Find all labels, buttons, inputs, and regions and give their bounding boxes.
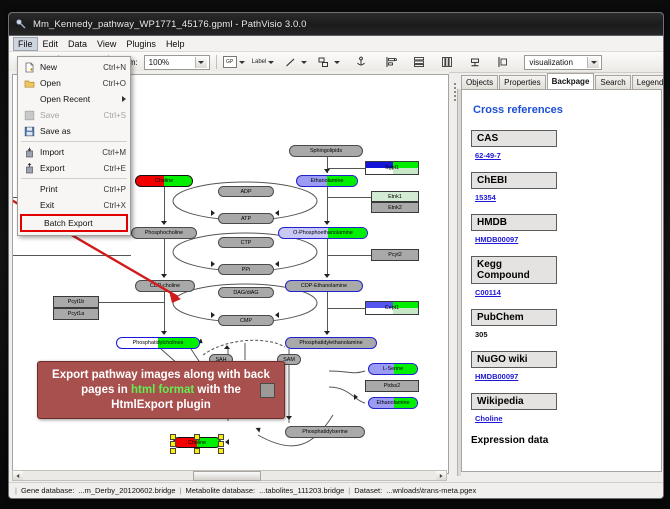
node-cdp-ethanolamine[interactable]: CDP-Ethanolamine <box>285 280 363 292</box>
node-label: Etnk2 <box>388 205 402 211</box>
node-label: Pcyt1a <box>68 311 84 317</box>
tab-search[interactable]: Search <box>595 75 630 89</box>
arrow-icon <box>211 312 215 318</box>
arrow-icon <box>275 210 279 216</box>
new-file-icon <box>22 61 36 73</box>
menu-separator <box>21 141 127 142</box>
menu-separator <box>21 178 127 179</box>
group-icon[interactable] <box>466 54 483 71</box>
zoom-value: 100% <box>147 58 195 67</box>
canvas-horizontal-scrollbar[interactable] <box>12 470 447 481</box>
node-label: Phosphocholine <box>145 230 183 236</box>
node-label: CTP <box>241 240 252 246</box>
node-sphingolipids[interactable]: Sphingolipids <box>289 145 363 157</box>
xref-value-hmdb[interactable]: HMDB00097 <box>475 235 652 244</box>
menu-item-accelerator: Ctrl+E <box>104 164 126 173</box>
node-label: Pcyt2 <box>388 252 401 258</box>
status-metabolite-database-label: Metabolite database: <box>183 486 257 495</box>
node-pcyt2[interactable]: Pcyt2 <box>371 249 419 261</box>
node-ptdss2[interactable]: Ptdss2 <box>365 380 419 392</box>
arrow-icon <box>211 261 215 267</box>
node-label: ADP <box>240 189 251 195</box>
node-ctp[interactable]: CTP <box>218 237 274 248</box>
menu-item-label: Print <box>40 184 104 194</box>
menu-file[interactable]: File <box>13 37 38 51</box>
cross-references-heading: Cross references <box>473 104 652 116</box>
node-cept1[interactable]: Cept1 <box>365 301 419 315</box>
order-icon[interactable] <box>494 54 511 71</box>
menu-item-export[interactable]: Export Ctrl+E <box>18 160 130 176</box>
blank-icon <box>22 199 36 211</box>
node-ethanolamine-bottom[interactable]: Ethanolamine <box>368 397 418 409</box>
xref-value-cas[interactable]: 62-49-7 <box>475 151 652 160</box>
visualization-value: visualization <box>527 58 587 67</box>
node-label: Phosphatidylcholines <box>133 340 184 346</box>
file-menu-dropdown[interactable]: New Ctrl+N Open Ctrl+O Open Recent Save <box>17 56 131 236</box>
menu-item-label: New <box>40 62 103 72</box>
menu-plugins[interactable]: Plugins <box>121 37 161 51</box>
blank-icon <box>22 183 36 195</box>
line-tool[interactable] <box>282 54 307 71</box>
chevron-down-icon[interactable] <box>195 57 207 68</box>
scroll-right-icon[interactable] <box>436 471 446 480</box>
menu-item-label: Open Recent <box>40 94 122 104</box>
application-window: Mm_Kennedy_pathway_WP1771_45176.gpml - P… <box>8 12 664 499</box>
menu-bar[interactable]: File Edit Data View Plugins Help <box>9 36 663 52</box>
resize-handle[interactable] <box>218 441 224 447</box>
status-bar: | Gene database: ...m_Derby_20120602.bri… <box>9 482 663 498</box>
pathvisio-icon <box>15 18 28 31</box>
save-icon <box>22 109 36 121</box>
node-phosphatidylethanolamine[interactable]: Phosphatidylethanolamine <box>285 337 377 349</box>
status-metabolite-database-value: ...tabolites_111203.bridge <box>257 486 346 495</box>
menu-item-label: Batch Export <box>44 218 122 228</box>
node-pcyt1a[interactable]: Pcyt1a <box>53 308 99 320</box>
node-cmp[interactable]: CMP <box>218 315 274 326</box>
node-label: CDP-Ethanolamine <box>301 283 347 289</box>
side-panel-tabs[interactable]: Objects Properties Backpage Search Legen… <box>449 74 664 89</box>
tab-properties[interactable]: Properties <box>499 75 545 89</box>
xref-value-nugo-wiki[interactable]: HMDB00097 <box>475 372 652 381</box>
menu-item-label: Exit <box>40 200 104 210</box>
chevron-down-icon[interactable] <box>301 61 307 64</box>
xref-header-nugo-wiki: NuGO wiki <box>471 351 557 368</box>
arrow-icon <box>354 394 358 400</box>
banner-line-2-a: pages in <box>81 384 131 396</box>
node-pcyt1b[interactable]: Pcyt1b <box>53 296 99 308</box>
node-sgpl1[interactable]: Sgpl1 <box>365 161 419 175</box>
menu-item-accelerator: Ctrl+S <box>104 111 126 120</box>
arrow-icon <box>211 210 215 216</box>
resize-handle[interactable] <box>218 448 224 454</box>
tab-objects[interactable]: Objects <box>461 75 498 89</box>
xref-header-kegg-compound: Kegg Compound <box>471 256 557 284</box>
xref-value-pubchem: 305 <box>475 330 652 339</box>
node-label: Sphingolipids <box>310 148 342 154</box>
desktop-background: Mm_Kennedy_pathway_WP1771_45176.gpml - P… <box>0 0 670 509</box>
arrow-icon <box>286 416 292 420</box>
menu-item-open-recent[interactable]: Open Recent <box>18 91 130 107</box>
resize-handle[interactable] <box>170 434 176 440</box>
node-label: CMP <box>240 318 252 324</box>
pathway-anchor-tag[interactable] <box>260 383 275 398</box>
menu-item-accelerator: Ctrl+N <box>103 63 126 72</box>
status-dataset-label: Dataset: <box>352 486 384 495</box>
banner-line-2-b: with the <box>194 384 241 396</box>
blank-icon <box>22 93 36 105</box>
menu-item-open[interactable]: Open Ctrl+O <box>18 75 130 91</box>
tab-legend[interactable]: Legend <box>632 75 664 89</box>
status-gene-database-label: Gene database: <box>19 486 76 495</box>
node-phosphocholine[interactable]: Phosphocholine <box>131 227 197 239</box>
node-label: Phosphatidylserine <box>302 429 348 435</box>
node-etnk1[interactable]: Etnk1 <box>371 191 419 202</box>
resize-handle[interactable] <box>170 448 176 454</box>
menu-help[interactable]: Help <box>161 37 190 51</box>
annotation-banner: Export pathway images along with back pa… <box>37 361 285 419</box>
save-as-icon <box>22 125 36 137</box>
xref-header-pubchem: PubChem <box>471 309 557 326</box>
banner-line-1: Export pathway images along with back <box>52 368 270 383</box>
arrow-icon <box>275 261 279 267</box>
chevron-down-icon[interactable] <box>587 57 599 68</box>
node-label: DAG/diAG <box>233 290 258 296</box>
node-label: ATP <box>241 216 251 222</box>
chevron-down-icon[interactable] <box>239 61 245 64</box>
menu-view[interactable]: View <box>92 37 121 51</box>
menu-item-save: Save Ctrl+S <box>18 107 130 123</box>
resize-handle[interactable] <box>170 441 176 447</box>
node-phosphatidylserine[interactable]: Phosphatidylserine <box>285 426 365 438</box>
xref-header-hmdb: HMDB <box>471 214 557 231</box>
node-label: SAM <box>283 357 295 363</box>
node-o-phosphoethanolamine[interactable]: O-Phosphoethanolamine <box>278 227 368 239</box>
menu-item-label: Import <box>40 147 102 157</box>
menu-item-new[interactable]: New Ctrl+N <box>18 59 130 75</box>
tab-backpage[interactable]: Backpage <box>547 73 595 89</box>
node-label: PPi <box>242 267 250 273</box>
window-title: Mm_Kennedy_pathway_WP1771_45176.gpml - P… <box>33 19 307 30</box>
menu-item-exit[interactable]: Exit Ctrl+X <box>18 197 130 213</box>
node-label: Cept1 <box>385 305 399 311</box>
side-panel: Objects Properties Backpage Search Legen… <box>449 71 664 498</box>
xref-header-cas: CAS <box>471 130 557 147</box>
label-tool-text: Label <box>252 59 267 65</box>
status-gene-database-value: ...m_Derby_20120602.bridge <box>76 486 177 495</box>
banner-line-3: HtmlExport plugin <box>111 398 211 413</box>
export-icon <box>22 162 36 174</box>
arrow-icon <box>224 345 230 349</box>
node-label: Ethanolamine <box>311 178 344 184</box>
node-phosphatidylcholines[interactable]: Phosphatidylcholines <box>116 337 200 349</box>
menu-item-save-as[interactable]: Save as <box>18 123 130 139</box>
node-label: Sgpl1 <box>385 165 399 171</box>
toolbar-separator-3 <box>216 55 217 69</box>
node-etnk2[interactable]: Etnk2 <box>371 202 419 213</box>
blank-icon <box>26 217 40 229</box>
menu-item-label: Open <box>40 78 103 88</box>
xref-header-wikipedia: Wikipedia <box>471 393 557 410</box>
node-dag-diag[interactable]: DAG/diAG <box>218 287 274 298</box>
node-adp[interactable]: ADP <box>218 186 274 197</box>
node-cdp-choline[interactable]: CDP-choline <box>135 280 195 292</box>
align-stack-icon[interactable] <box>410 54 427 71</box>
resize-handle[interactable] <box>194 434 200 440</box>
node-label: O-Phosphoethanolamine <box>293 230 353 236</box>
label-tool[interactable]: Label <box>252 59 275 65</box>
node-atp[interactable]: ATP <box>218 213 274 224</box>
menu-data[interactable]: Data <box>63 37 92 51</box>
import-icon <box>22 146 36 158</box>
chevron-down-icon[interactable] <box>334 61 340 64</box>
node-ethanolamine-top[interactable]: Ethanolamine <box>296 175 358 187</box>
node-l-serine[interactable]: L-Serine <box>368 363 418 375</box>
menu-item-label: Save <box>40 110 104 120</box>
arrow-icon <box>275 312 279 318</box>
node-label: Ethanolamine <box>377 400 410 406</box>
line-icon[interactable] <box>282 54 299 71</box>
menu-item-print[interactable]: Print Ctrl+P <box>18 181 130 197</box>
submenu-arrow-icon <box>122 96 126 102</box>
visualization-combo[interactable]: visualization <box>524 55 602 70</box>
backpage-panel: Cross references CAS 62-49-7 ChEBI 15354… <box>461 89 662 472</box>
xref-header-chebi: ChEBI <box>471 172 557 189</box>
node-label: CDP-choline <box>150 283 180 289</box>
xref-value-chebi[interactable]: 15354 <box>475 193 652 202</box>
xref-value-kegg-compound[interactable]: C00114 <box>475 288 652 297</box>
chevron-down-icon[interactable] <box>268 61 274 64</box>
shape-icon[interactable] <box>315 54 332 71</box>
node-label: Ptdss2 <box>384 383 400 389</box>
align-columns-icon[interactable] <box>438 54 455 71</box>
menu-edit[interactable]: Edit <box>38 37 64 51</box>
shape-tool[interactable] <box>315 54 340 71</box>
node-label: Phosphatidylethanolamine <box>299 340 362 346</box>
menu-item-accelerator: Ctrl+X <box>104 201 126 210</box>
status-dataset-value: ...wnloads\trans-meta.pgex <box>384 486 478 495</box>
zoom-combo[interactable]: 100% <box>144 55 210 70</box>
menu-item-accelerator: Ctrl+P <box>104 185 126 194</box>
node-label: Etnk1 <box>388 194 402 200</box>
menu-item-label: Export <box>40 163 104 173</box>
open-folder-icon <box>22 77 36 89</box>
node-ppi[interactable]: PPi <box>218 264 274 275</box>
xref-value-wikipedia[interactable]: Choline <box>475 414 652 423</box>
node-label: Pcyt1b <box>68 299 84 305</box>
menu-item-import[interactable]: Import Ctrl+M <box>18 144 130 160</box>
resize-handle[interactable] <box>194 448 200 454</box>
title-bar: Mm_Kennedy_pathway_WP1771_45176.gpml - P… <box>9 13 663 36</box>
menu-item-label: Save as <box>40 126 126 136</box>
geneproduct-icon[interactable]: GP <box>223 56 237 68</box>
scroll-left-icon[interactable] <box>13 471 23 480</box>
resize-handle[interactable] <box>218 434 224 440</box>
node-label: Choline <box>188 440 206 446</box>
menu-item-batch-export[interactable]: Batch Export <box>20 214 128 232</box>
align-left-icon[interactable] <box>382 54 399 71</box>
datanode-tool[interactable]: GP <box>223 56 245 68</box>
banner-line-2: pages in html format with the <box>81 383 241 398</box>
scrollbar-thumb[interactable] <box>193 471 261 481</box>
node-choline[interactable]: Choline <box>135 175 193 187</box>
arrow-icon <box>225 439 229 445</box>
menu-item-accelerator: Ctrl+O <box>103 79 126 88</box>
menu-item-accelerator: Ctrl+M <box>102 148 126 157</box>
node-label: Choline <box>155 178 173 184</box>
anchor-tool-icon[interactable] <box>352 54 369 71</box>
banner-highlight: html format <box>131 384 194 396</box>
expression-data-heading: Expression data <box>471 435 652 446</box>
node-label: L-Serine <box>383 366 403 372</box>
